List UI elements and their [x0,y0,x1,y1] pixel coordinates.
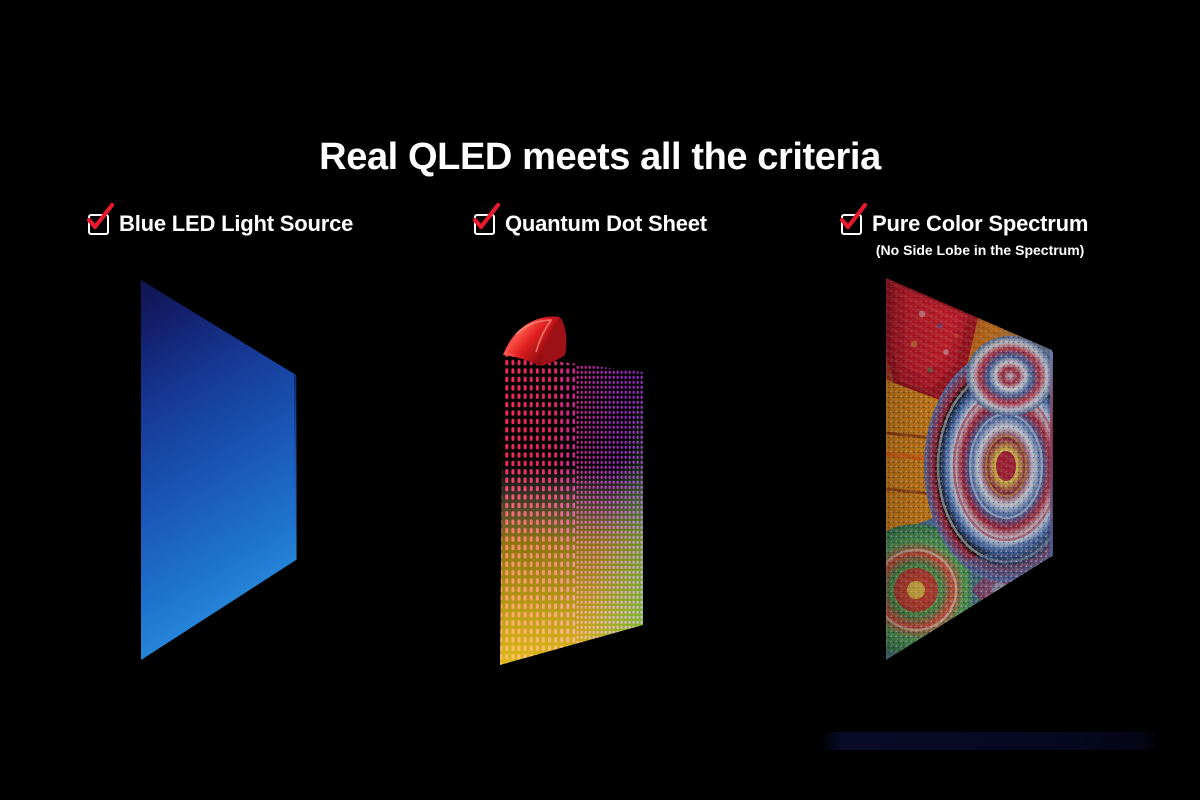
criterion-label: Blue LED Light Source [119,209,353,239]
slide-canvas: Real QLED meets all the criteria [0,0,1200,800]
criterion-label: Pure Color Spectrum [872,209,1088,239]
criterion-text: Pure Color Spectrum (No Side Lobe in the… [872,209,1088,260]
bottom-glow-band [820,732,1160,750]
criterion-blue-led-light-source: Blue LED Light Source [88,209,353,239]
criterion-pure-color-spectrum: Pure Color Spectrum (No Side Lobe in the… [841,209,1088,260]
quantum-dot-sheet-illustration [480,300,670,690]
criterion-text: Quantum Dot Sheet [505,209,707,239]
pure-color-spectrum-illustration [860,260,1080,680]
criterion-label: Quantum Dot Sheet [505,209,707,239]
blue-led-panel-illustration [120,260,320,680]
check-mark-icon [474,214,495,235]
criterion-quantum-dot-sheet: Quantum Dot Sheet [474,209,707,239]
page-title: Real QLED meets all the criteria [0,133,1200,181]
criterion-sublabel: (No Side Lobe in the Spectrum) [872,240,1088,260]
check-mark-icon [88,214,109,235]
criterion-text: Blue LED Light Source [119,209,353,239]
check-mark-icon [841,214,862,235]
